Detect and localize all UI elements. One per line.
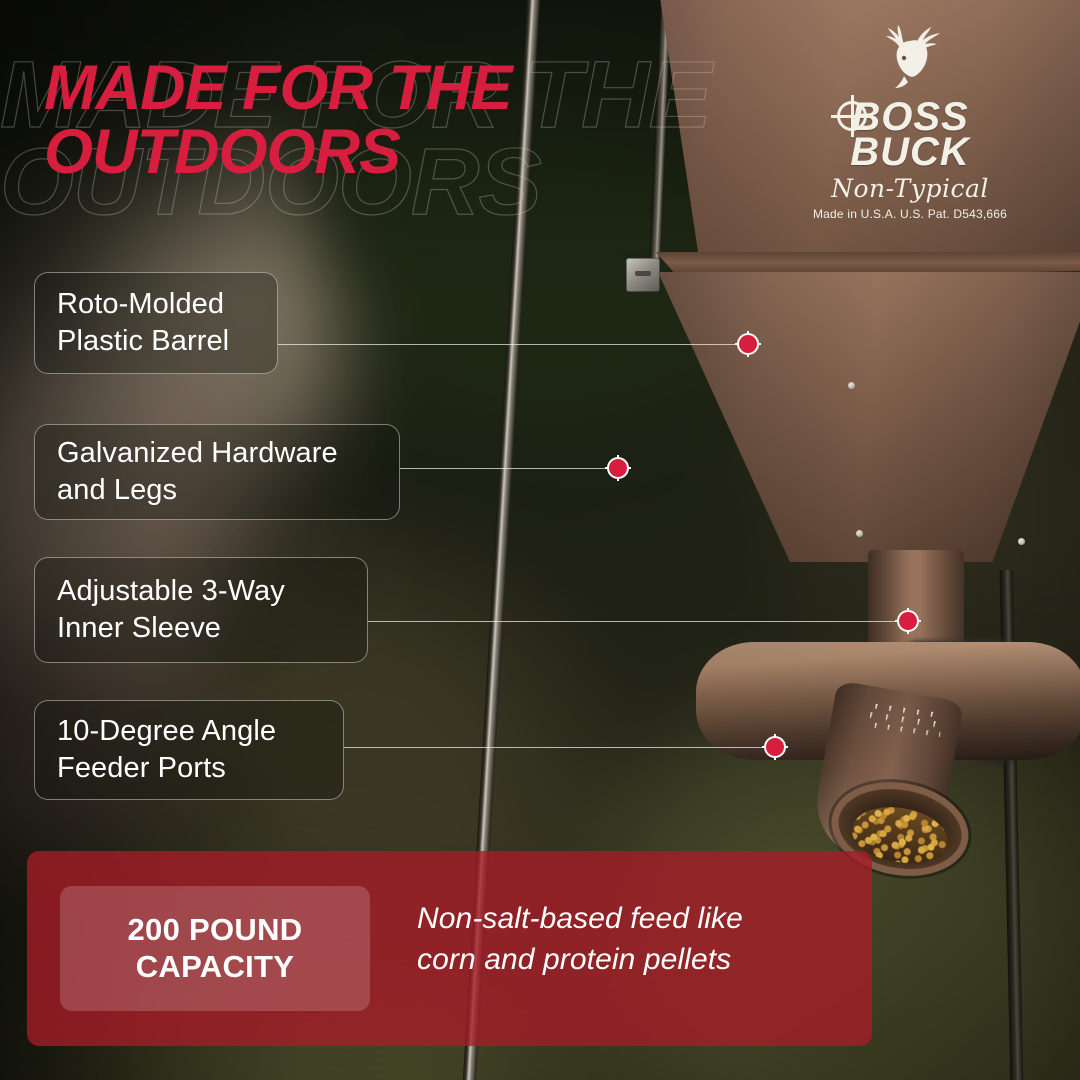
crosshair-icon — [837, 101, 867, 131]
callout-label: 10-Degree Angle Feeder Ports — [57, 713, 276, 787]
screw-icon — [856, 530, 863, 537]
callout-galvanized-hardware-and-legs[interactable]: Galvanized Hardware and Legs — [34, 424, 400, 520]
brand-line-1: BOSS — [805, 99, 1015, 136]
brand-tagline: Non-Typical — [805, 174, 1015, 203]
callout-feeder-ports[interactable]: 10-Degree Angle Feeder Ports — [34, 700, 344, 800]
crosshair-dot — [899, 612, 917, 630]
callout-label: Roto-Molded Plastic Barrel — [57, 286, 229, 360]
inner-sleeve-tube — [868, 550, 964, 650]
deer-head-icon — [860, 14, 960, 94]
crosshair-marker-icon-2 — [605, 455, 631, 481]
funnel-cone — [658, 272, 1080, 562]
capacity-label: 200 POUND CAPACITY — [128, 912, 303, 985]
capacity-pill: 200 POUND CAPACITY — [60, 886, 370, 1011]
page-title: MADE FOR THE OUTDOORS — [44, 56, 684, 185]
made-in-text: Made in U.S.A. U.S. Pat. D543,666 — [805, 207, 1015, 222]
product-infographic: BOSS BUCK Non-Typical Made in U.S.A. U.S… — [0, 0, 1080, 1080]
capacity-banner: 200 POUND CAPACITY Non-salt-based feed l… — [27, 851, 872, 1046]
crosshair-dot — [739, 335, 757, 353]
screw-icon — [848, 382, 855, 389]
screw-icon — [1018, 538, 1025, 545]
callout-roto-molded-plastic-barrel[interactable]: Roto-Molded Plastic Barrel — [34, 272, 278, 374]
callout-label: Adjustable 3-Way Inner Sleeve — [57, 573, 285, 647]
boss-buck-decal: BOSS BUCK Non-Typical Made in U.S.A. U.S… — [805, 14, 1015, 224]
crosshair-dot — [609, 459, 627, 477]
crosshair-marker-icon-1 — [735, 331, 761, 357]
connector-line-2 — [400, 468, 606, 469]
crosshair-marker-icon-4 — [762, 734, 788, 760]
connector-line-4 — [344, 747, 763, 748]
sleeve-shading — [868, 550, 964, 650]
feed-note: Non-salt-based feed like corn and protei… — [417, 899, 837, 980]
crosshair-dot — [766, 738, 784, 756]
connector-line-3 — [368, 621, 896, 622]
callout-label: Galvanized Hardware and Legs — [57, 435, 338, 509]
connector-line-1 — [278, 344, 740, 345]
galvanized-bracket — [626, 258, 660, 292]
crosshair-marker-icon-3 — [895, 608, 921, 634]
cone-shading — [658, 272, 1080, 562]
callout-adjustable-inner-sleeve[interactable]: Adjustable 3-Way Inner Sleeve — [34, 557, 368, 663]
headline-block: MADE FOR THE OUTDOORS MADE FOR THE OUTDO… — [44, 56, 684, 185]
brand-line-2: BUCK — [805, 134, 1015, 171]
